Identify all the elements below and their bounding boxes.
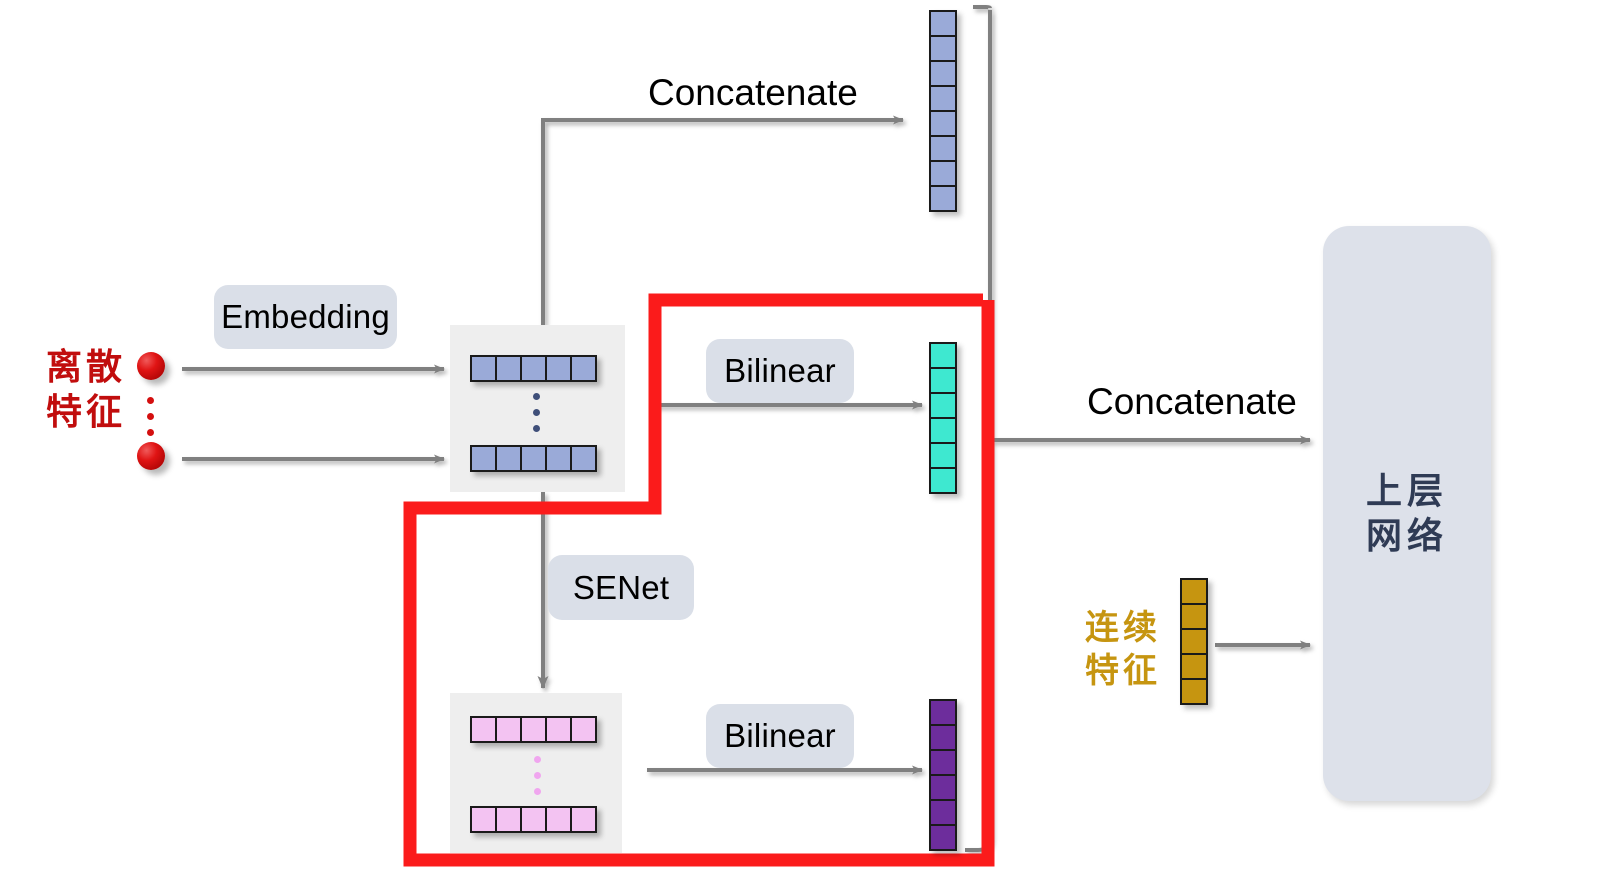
concat-cell [929, 10, 957, 37]
embedding-cell [495, 355, 522, 382]
embedding-cell [570, 445, 597, 472]
bilinear-bottom-cell [929, 724, 957, 751]
concatenate-top-label: Concatenate [648, 72, 858, 114]
dense-cell [1180, 628, 1208, 655]
embedding-chip[interactable]: Embedding [214, 285, 397, 349]
bilinear-bottom-cell [929, 749, 957, 776]
dense-feature-column [1180, 578, 1208, 705]
sparse-feature-ellipsis [147, 397, 154, 436]
embedding-cell [470, 355, 497, 382]
dense-cell [1180, 653, 1208, 680]
upper-network-label: 上层 网络 [1366, 469, 1448, 559]
bilinear-bottom-cell [929, 774, 957, 801]
bilinear-top-cell [929, 417, 957, 444]
senet-cell [470, 716, 497, 743]
bilinear-top-cell [929, 442, 957, 469]
embedding-row-1 [470, 355, 597, 382]
bilinear-bottom-cell [929, 824, 957, 851]
embedding-cell [545, 355, 572, 382]
embedding-cell [470, 445, 497, 472]
bilinear-top-chip[interactable]: Bilinear [706, 339, 854, 403]
concat-cell [929, 60, 957, 87]
bilinear-bottom-cell [929, 699, 957, 726]
bus-line-vertical [965, 7, 990, 850]
diagram-canvas: 离散 特征 Embedding Concatenate Bilinear [0, 0, 1597, 892]
embedding-cell [495, 445, 522, 472]
concat-cell [929, 160, 957, 187]
senet-cell [570, 806, 597, 833]
sparse-feature-sphere-1 [137, 352, 165, 380]
bilinear-top-cell [929, 342, 957, 369]
bilinear-top-cell [929, 392, 957, 419]
bilinear-top-cell [929, 467, 957, 494]
senet-row-2 [470, 806, 597, 833]
arrow-embedding-to-concat-top [543, 120, 903, 325]
senet-row-1 [470, 716, 597, 743]
dense-cell [1180, 578, 1208, 605]
senet-cell [520, 716, 547, 743]
sparse-feature-sphere-2 [137, 442, 165, 470]
senet-cell [495, 806, 522, 833]
senet-chip[interactable]: SENet [548, 555, 694, 620]
senet-cell [470, 806, 497, 833]
bilinear-top-cell [929, 367, 957, 394]
dense-feature-label: 连续 特征 [1073, 607, 1173, 692]
concatenate-right-label: Concatenate [1087, 381, 1297, 423]
senet-cell [495, 716, 522, 743]
dense-cell [1180, 603, 1208, 630]
senet-cell [520, 806, 547, 833]
concat-cell [929, 110, 957, 137]
concat-cell [929, 85, 957, 112]
senet-rows-ellipsis [534, 756, 541, 795]
concat-output-column [929, 10, 957, 212]
dense-cell [1180, 678, 1208, 705]
embedding-cell [520, 355, 547, 382]
embedding-row-2 [470, 445, 597, 472]
concat-cell [929, 35, 957, 62]
senet-cell [570, 716, 597, 743]
embedding-rows-ellipsis [533, 393, 540, 432]
bilinear-bottom-cell [929, 799, 957, 826]
bilinear-bottom-output-column [929, 699, 957, 851]
embedding-cell [545, 445, 572, 472]
upper-network-box[interactable]: 上层 网络 [1323, 226, 1491, 801]
concat-cell [929, 185, 957, 212]
concat-cell [929, 135, 957, 162]
embedding-cell [570, 355, 597, 382]
senet-cell [545, 716, 572, 743]
senet-cell [545, 806, 572, 833]
bilinear-top-output-column [929, 342, 957, 494]
bilinear-bottom-chip[interactable]: Bilinear [706, 704, 854, 768]
embedding-cell [520, 445, 547, 472]
sparse-feature-label: 离散 特征 [34, 345, 138, 435]
